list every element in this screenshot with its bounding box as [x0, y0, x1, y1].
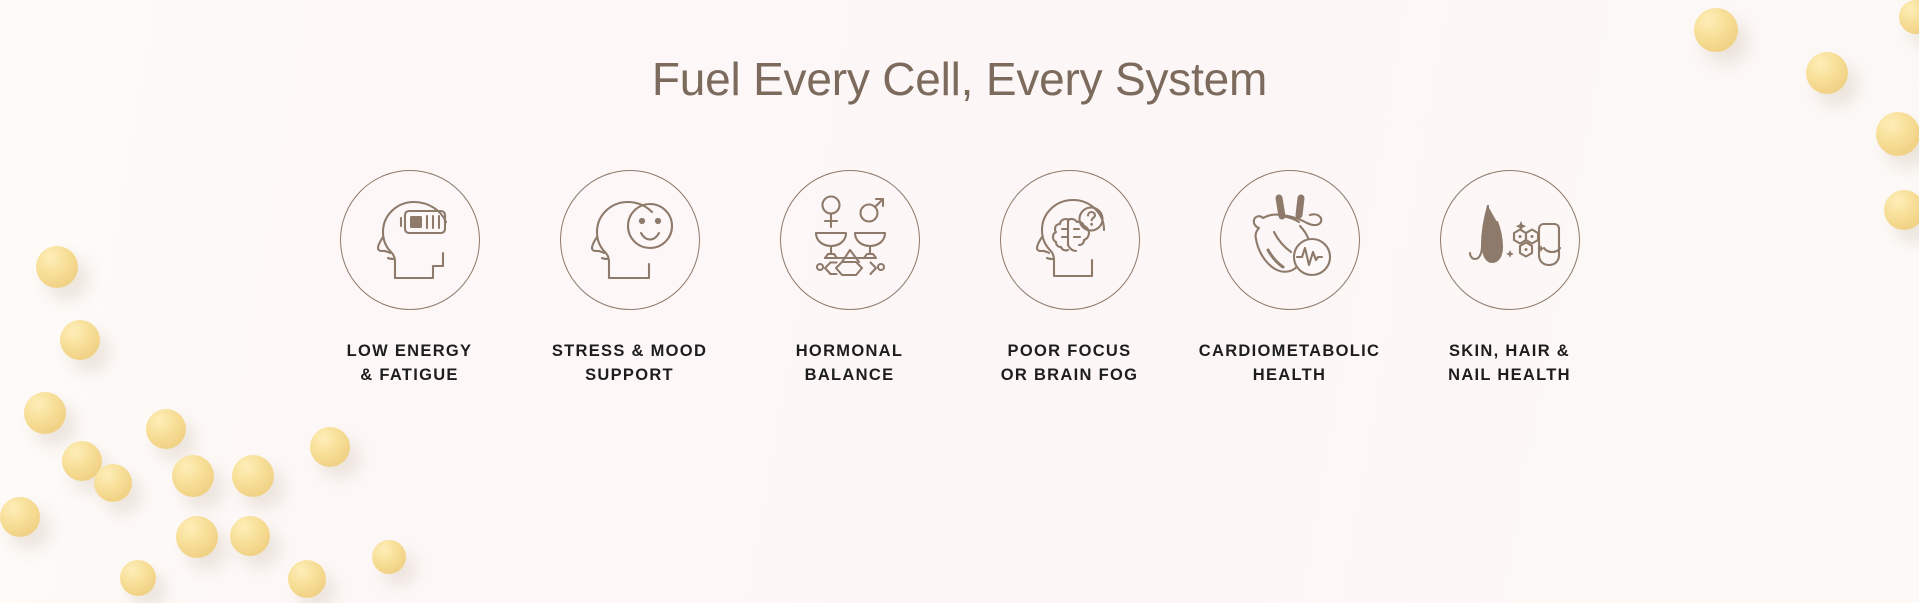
page-title: Fuel Every Cell, Every System: [0, 52, 1919, 106]
benefit-icon-circle: [1440, 170, 1580, 310]
head-battery-icon: [358, 188, 462, 292]
benefit-label: LOW ENERGY & FATIGUE: [295, 339, 525, 388]
pill-decoration: [372, 540, 406, 574]
benefits-row: LOW ENERGY & FATIGUE STRESS & MOOD SUPPO…: [0, 170, 1919, 388]
benefit-label: HORMONAL BALANCE: [735, 339, 965, 388]
benefit-icon-circle: [1220, 170, 1360, 310]
pill-decoration: [0, 497, 40, 537]
benefit-label: STRESS & MOOD SUPPORT: [515, 339, 745, 388]
pill-decoration: [310, 427, 350, 467]
benefit-label: CARDIOMETABOLIC HEALTH: [1175, 339, 1405, 388]
pill-decoration: [24, 392, 66, 434]
pill-decoration: [1694, 8, 1738, 52]
benefit-item-hormonal[interactable]: HORMONAL BALANCE: [780, 170, 920, 388]
benefit-label: SKIN, HAIR & NAIL HEALTH: [1395, 339, 1625, 388]
pill-decoration: [176, 516, 218, 558]
benefit-item-skin-hair-nail[interactable]: SKIN, HAIR & NAIL HEALTH: [1440, 170, 1580, 388]
benefit-icon-circle: [560, 170, 700, 310]
pill-decoration: [120, 560, 156, 596]
benefit-item-stress-mood[interactable]: STRESS & MOOD SUPPORT: [560, 170, 700, 388]
head-brain-question-icon: [1018, 188, 1122, 292]
pill-decoration: [146, 409, 186, 449]
pill-decoration: [94, 464, 132, 502]
benefit-icon-circle: [780, 170, 920, 310]
hair-skin-nail-icon: [1458, 188, 1562, 292]
benefit-item-brain-fog[interactable]: POOR FOCUS OR BRAIN FOG: [1000, 170, 1140, 388]
benefit-icon-circle: [340, 170, 480, 310]
benefit-label: POOR FOCUS OR BRAIN FOG: [955, 339, 1185, 388]
pill-decoration: [172, 455, 214, 497]
hormone-balance-scales-icon: [798, 188, 902, 292]
head-smiley-icon: [578, 188, 682, 292]
hero-banner: Fuel Every Cell, Every System LOW ENE: [0, 0, 1919, 603]
benefit-item-low-energy[interactable]: LOW ENERGY & FATIGUE: [340, 170, 480, 388]
benefit-icon-circle: [1000, 170, 1140, 310]
pill-decoration: [288, 560, 326, 598]
pill-decoration: [232, 455, 274, 497]
pill-decoration: [1899, 0, 1919, 34]
benefit-item-cardiometabolic[interactable]: CARDIOMETABOLIC HEALTH: [1220, 170, 1360, 388]
heart-pulse-icon: [1238, 188, 1342, 292]
pill-decoration: [1876, 112, 1919, 156]
pill-decoration: [230, 516, 270, 556]
